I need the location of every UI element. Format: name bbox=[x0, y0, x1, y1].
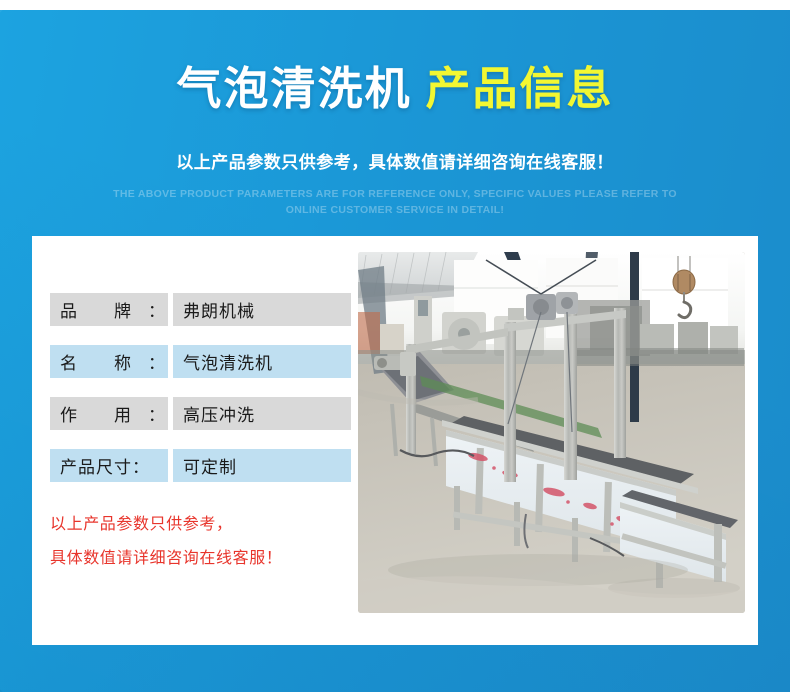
disclaimer-line-1: 以上产品参数只供参考， bbox=[50, 508, 282, 542]
spec-label-brand: 品 牌： bbox=[50, 293, 168, 326]
spec-label-size: 产品尺寸： bbox=[50, 449, 168, 482]
spec-label-brand-colon: ： bbox=[148, 297, 166, 322]
spec-value-name: 气泡清洗机 bbox=[173, 345, 351, 378]
table-row: 名 称： 气泡清洗机 bbox=[50, 345, 370, 378]
disclaimer-note: 以上产品参数只供参考， 具体数值请详细咨询在线客服！ bbox=[50, 508, 282, 576]
spec-label-size-colon: ： bbox=[132, 453, 150, 478]
page-title: 气泡清洗机产品信息 bbox=[0, 58, 790, 120]
content-card: 品 牌： 弗朗机械 名 称： 气泡清洗机 作 用： 高压冲洗 产品尺寸： bbox=[32, 236, 758, 645]
spec-label-function-text: 作 用 bbox=[60, 401, 148, 426]
spec-label-brand-text: 品 牌 bbox=[60, 297, 148, 322]
spec-value-size: 可定制 bbox=[173, 449, 351, 482]
spec-label-function: 作 用： bbox=[50, 397, 168, 430]
disclaimer-line-2: 具体数值请详细咨询在线客服！ bbox=[50, 542, 282, 576]
product-info-banner: 气泡清洗机产品信息 以上产品参数只供参考，具体数值请详细咨询在线客服！ THE … bbox=[0, 0, 790, 692]
product-photo bbox=[358, 252, 745, 613]
subtitle-chinese: 以上产品参数只供参考，具体数值请详细咨询在线客服！ bbox=[0, 148, 790, 173]
table-row: 品 牌： 弗朗机械 bbox=[50, 293, 370, 326]
spec-table: 品 牌： 弗朗机械 名 称： 气泡清洗机 作 用： 高压冲洗 产品尺寸： bbox=[50, 293, 370, 501]
table-row: 产品尺寸： 可定制 bbox=[50, 449, 370, 482]
subtitle-english: THE ABOVE PRODUCT PARAMETERS ARE FOR REF… bbox=[95, 186, 695, 218]
spec-value-function: 高压冲洗 bbox=[173, 397, 351, 430]
spec-label-name-colon: ： bbox=[148, 349, 166, 374]
spec-label-size-text: 产品尺寸 bbox=[60, 453, 132, 478]
page-title-accent: 产品信息 bbox=[426, 63, 614, 114]
spec-label-function-colon: ： bbox=[148, 401, 166, 426]
spec-label-name-text: 名 称 bbox=[60, 349, 148, 374]
product-photo-image bbox=[358, 252, 745, 613]
page-title-main: 气泡清洗机 bbox=[176, 63, 411, 114]
spec-label-name: 名 称： bbox=[50, 345, 168, 378]
spec-value-brand: 弗朗机械 bbox=[173, 293, 351, 326]
table-row: 作 用： 高压冲洗 bbox=[50, 397, 370, 430]
